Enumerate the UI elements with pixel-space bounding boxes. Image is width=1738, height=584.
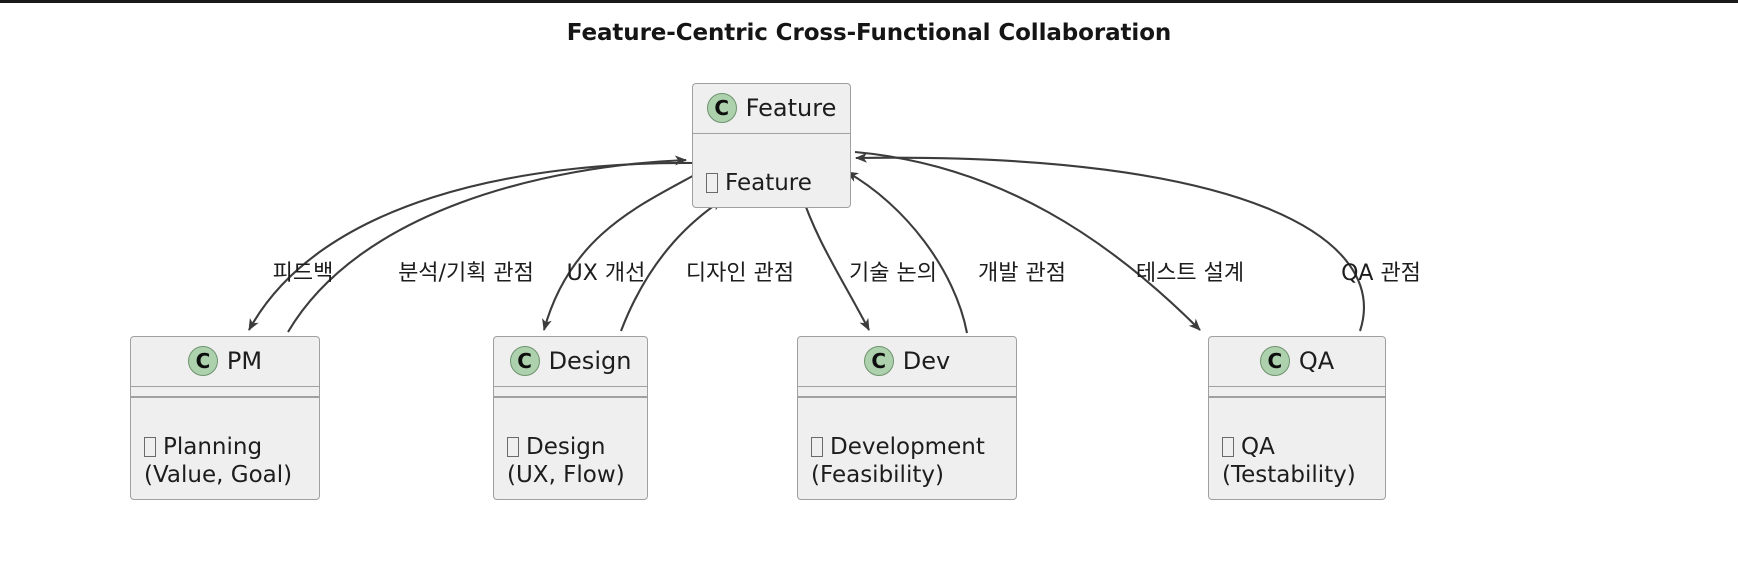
class-node-pm-body-text: Planning (Value, Goal) <box>144 434 292 488</box>
class-node-pm[interactable]: C PM Planning (Value, Goal) <box>130 336 320 500</box>
class-stereotype-icon: C <box>1260 346 1290 376</box>
class-node-qa-name: QA <box>1299 347 1334 375</box>
divider-gap <box>131 387 319 396</box>
edge-label-feedback: 피드백 <box>273 255 334 287</box>
class-node-pm-name: PM <box>227 347 262 375</box>
class-node-feature-body-text: Feature <box>725 170 812 196</box>
class-node-feature-name: Feature <box>746 94 837 122</box>
edge-feature-to-qa <box>855 152 1200 330</box>
class-node-qa-body: QA (Testability) <box>1209 398 1385 499</box>
divider-gap <box>798 387 1016 396</box>
tofu-glyph-icon <box>1222 437 1234 457</box>
edge-label-qa-perspective: QA 관점 <box>1341 255 1421 287</box>
edge-qa-to-feature <box>856 158 1364 331</box>
class-node-design-header: C Design <box>494 337 647 386</box>
class-node-qa[interactable]: C QA QA (Testability) <box>1208 336 1386 500</box>
class-stereotype-icon: C <box>188 346 218 376</box>
divider-gap <box>1209 387 1385 396</box>
edge-pm-to-feature <box>288 160 686 332</box>
tofu-glyph-icon <box>811 437 823 457</box>
edge-label-analysis-planning: 분석/기획 관점 <box>398 255 534 287</box>
class-node-dev-header: C Dev <box>798 337 1016 386</box>
class-node-qa-header: C QA <box>1209 337 1385 386</box>
class-node-pm-header: C PM <box>131 337 319 386</box>
edge-dev-to-feature <box>847 172 967 333</box>
edge-label-test-design: 테스트 설계 <box>1136 255 1244 287</box>
edge-label-tech-discussion: 기술 논의 <box>849 255 937 287</box>
class-node-dev-body: Development (Feasibility) <box>798 398 1016 499</box>
edge-label-ux-improvement: UX 개선 <box>567 255 646 287</box>
class-stereotype-icon: C <box>510 346 540 376</box>
edge-label-design-perspective: 디자인 관점 <box>686 255 794 287</box>
diagram-canvas: Feature-Centric Cross-Functional Collabo… <box>0 0 1738 584</box>
edge-label-dev-perspective: 개발 관점 <box>978 255 1066 287</box>
class-node-feature-header: C Feature <box>693 84 850 133</box>
class-node-pm-body: Planning (Value, Goal) <box>131 398 319 499</box>
class-node-feature[interactable]: C Feature Feature <box>692 83 851 208</box>
class-node-dev-body-text: Development (Feasibility) <box>811 434 985 488</box>
edge-feature-to-design <box>544 172 700 330</box>
divider-gap <box>494 387 647 396</box>
tofu-glyph-icon <box>507 437 519 457</box>
class-node-design[interactable]: C Design Design (UX, Flow) <box>493 336 648 500</box>
class-stereotype-icon: C <box>864 346 894 376</box>
edge-feature-to-pm <box>249 163 692 330</box>
class-node-dev[interactable]: C Dev Development (Feasibility) <box>797 336 1017 500</box>
class-node-qa-body-text: QA (Testability) <box>1222 434 1356 488</box>
class-stereotype-icon: C <box>707 93 737 123</box>
tofu-glyph-icon <box>144 437 156 457</box>
class-node-design-body: Design (UX, Flow) <box>494 398 647 499</box>
class-node-feature-body: Feature <box>693 134 850 207</box>
class-node-design-body-text: Design (UX, Flow) <box>507 434 625 488</box>
class-node-dev-name: Dev <box>903 347 950 375</box>
class-node-design-name: Design <box>549 347 632 375</box>
tofu-glyph-icon <box>706 173 718 193</box>
